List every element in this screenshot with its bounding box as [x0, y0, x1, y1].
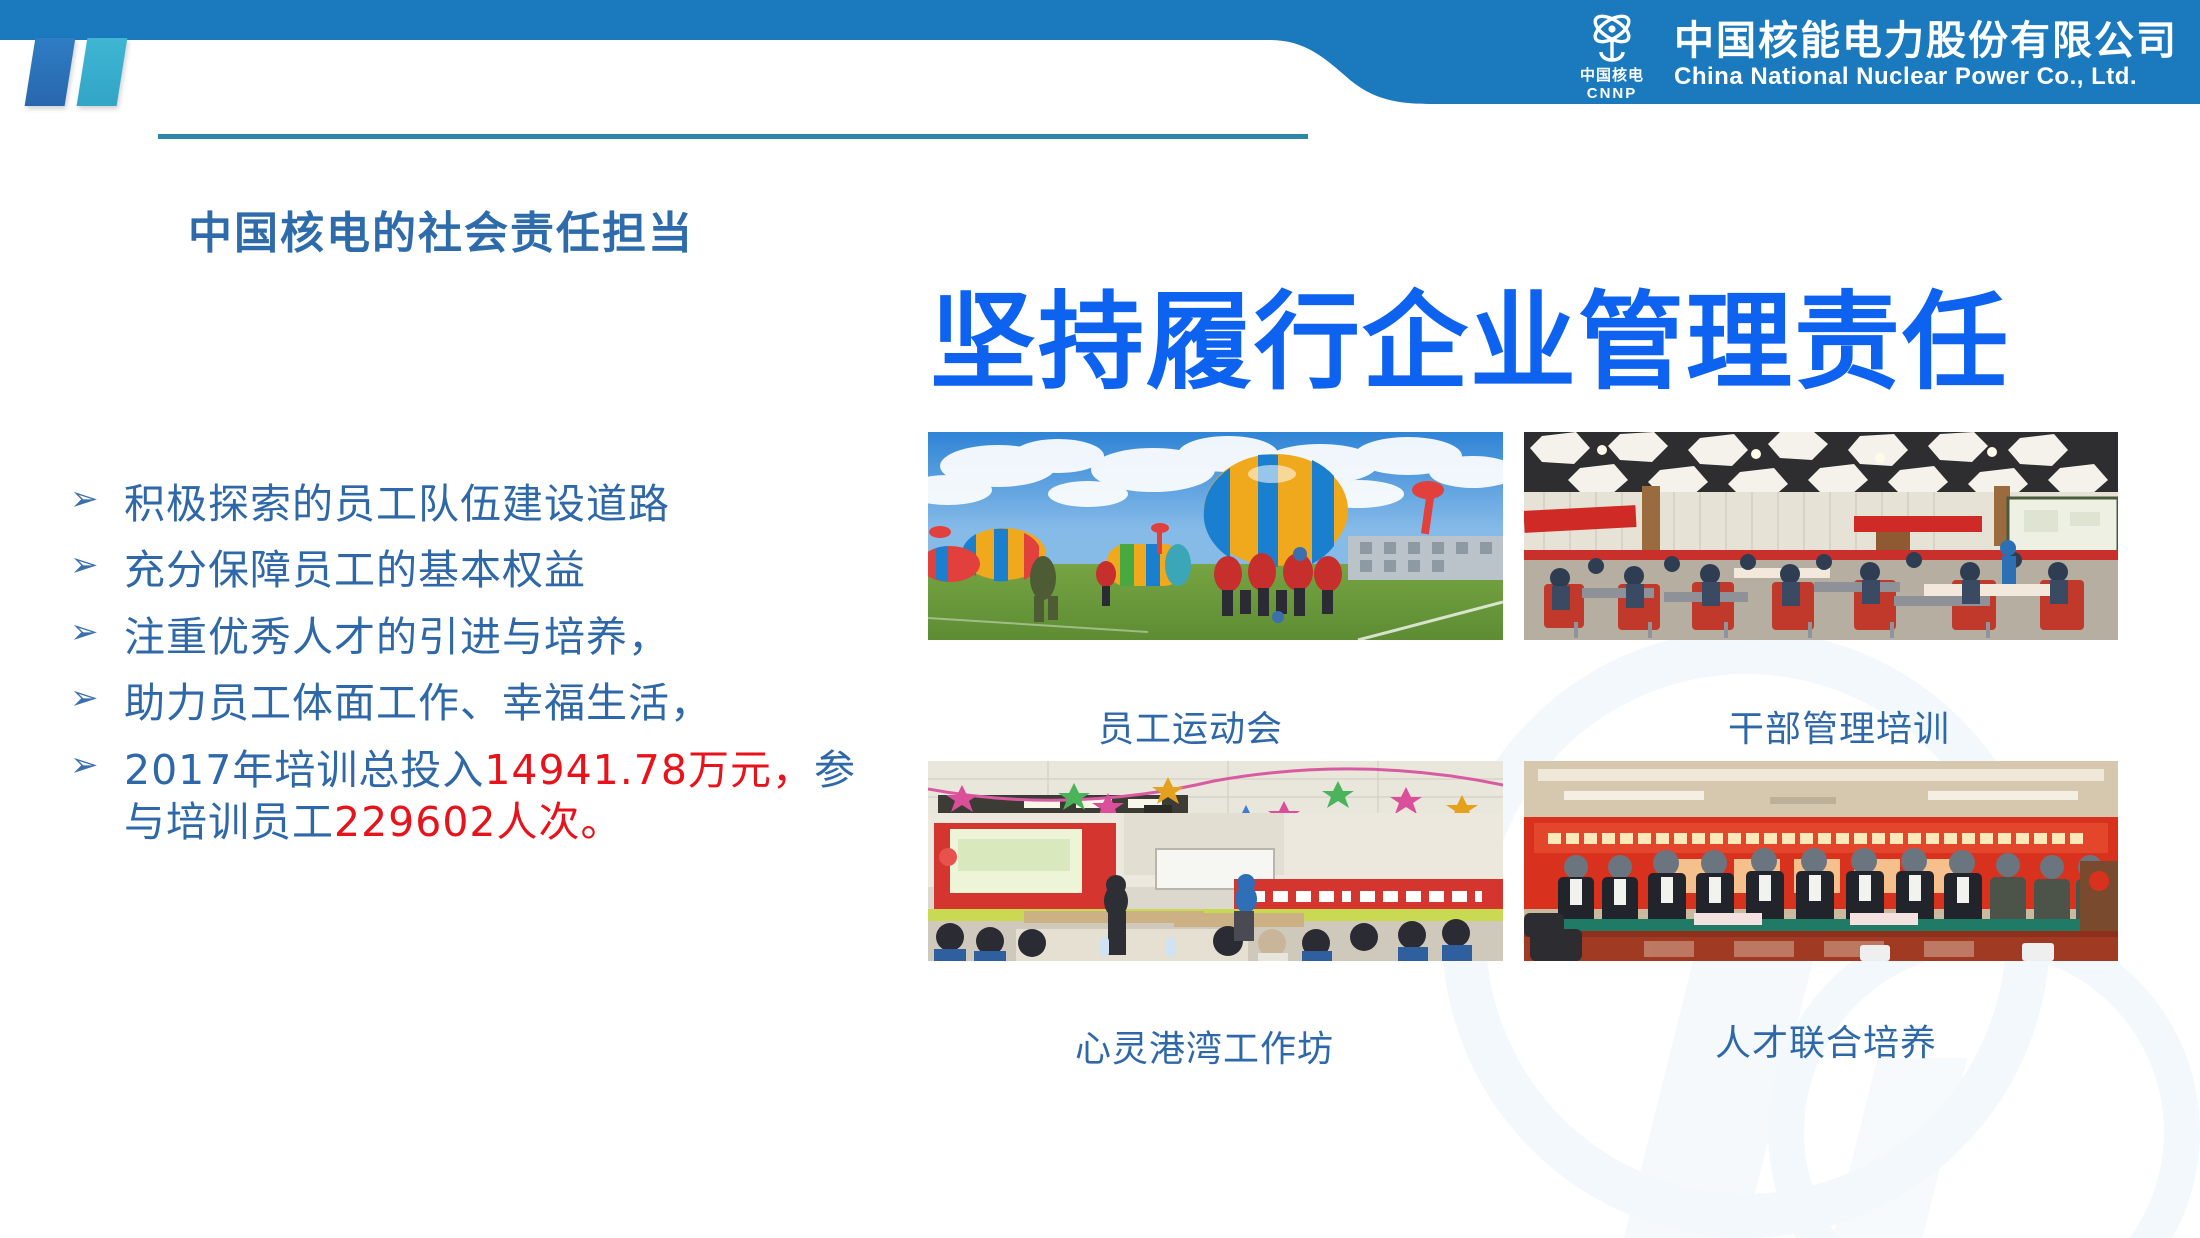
page-title: 中国核电的社会责任担当	[188, 197, 694, 261]
photo-caption-mind-harbor-workshop: 心灵港湾工作坊	[1075, 1028, 1365, 1072]
list-item-text: 充分保障员工的基本权益	[124, 544, 586, 596]
bullet-list: ➢ 积极探索的员工队伍建设道路 ➢ 充分保障员工的基本权益 ➢ 注重优秀人才的引…	[70, 478, 860, 863]
photo-caption-joint-talent-cultivation: 人才联合培养	[1715, 1022, 2055, 1066]
brand-lockup: 中国核电 CNNP 中国核能电力股份有限公司 China National Nu…	[1566, 8, 2178, 102]
highlight-figure: 14941.78万元，	[484, 746, 814, 794]
text-run: 助力员工体面工作、幸福生活，	[124, 679, 712, 727]
list-item-text: 积极探索的员工队伍建设道路	[124, 478, 670, 530]
list-item: ➢ 2017年培训总投入14941.78万元，参与培训员工229602人次。	[70, 744, 860, 849]
logo-text-en: CNNP	[1587, 86, 1638, 102]
accent-bar-light	[77, 38, 128, 106]
logo-text-cn: 中国核电	[1580, 68, 1644, 84]
text-run: 积极探索的员工队伍建设道路	[124, 480, 670, 528]
accent-bars	[30, 38, 122, 106]
chevron-bullet-icon: ➢	[70, 677, 124, 720]
section-headline: 坚持履行企业管理责任	[930, 290, 2180, 396]
photo-joint-talent-cultivation	[1524, 761, 2118, 961]
company-name-en: China National Nuclear Power Co., Ltd.	[1674, 64, 2178, 89]
accent-bar-dark	[25, 38, 76, 106]
slide-canvas: 中国核电 CNNP 中国核能电力股份有限公司 China National Nu…	[0, 0, 2200, 1238]
text-run: 2017年培训总投入	[124, 746, 484, 794]
highlight-figure: 229602人次。	[334, 798, 623, 846]
list-item: ➢ 充分保障员工的基本权益	[70, 544, 860, 596]
photo-caption-cadre-management-training: 干部管理培训	[1728, 708, 2058, 752]
chevron-bullet-icon: ➢	[70, 611, 124, 654]
text-run: 注重优秀人才的引进与培养，	[124, 613, 670, 661]
company-name-cn: 中国核能电力股份有限公司	[1674, 20, 2178, 62]
list-item-text: 助力员工体面工作、幸福生活，	[124, 677, 712, 729]
list-item-text: 2017年培训总投入14941.78万元，参与培训员工229602人次。	[124, 744, 860, 849]
photo-staff-sports-meet	[928, 432, 1503, 640]
list-item: ➢ 积极探索的员工队伍建设道路	[70, 478, 860, 530]
chevron-bullet-icon: ➢	[70, 744, 124, 787]
photo-mind-harbor-workshop	[928, 761, 1503, 961]
list-item-text: 注重优秀人才的引进与培养，	[124, 611, 670, 663]
chevron-bullet-icon: ➢	[70, 544, 124, 587]
title-divider-rule	[158, 134, 1308, 139]
atom-icon	[1577, 8, 1647, 66]
chevron-bullet-icon: ➢	[70, 478, 124, 521]
list-item: ➢ 注重优秀人才的引进与培养，	[70, 611, 860, 663]
cnnp-logo: 中国核电 CNNP	[1566, 8, 1658, 102]
text-run: 充分保障员工的基本权益	[124, 546, 586, 594]
photo-cadre-management-training	[1524, 432, 2118, 640]
list-item: ➢ 助力员工体面工作、幸福生活，	[70, 677, 860, 729]
photo-caption-staff-sports-meet: 员工运动会	[1098, 708, 1348, 752]
